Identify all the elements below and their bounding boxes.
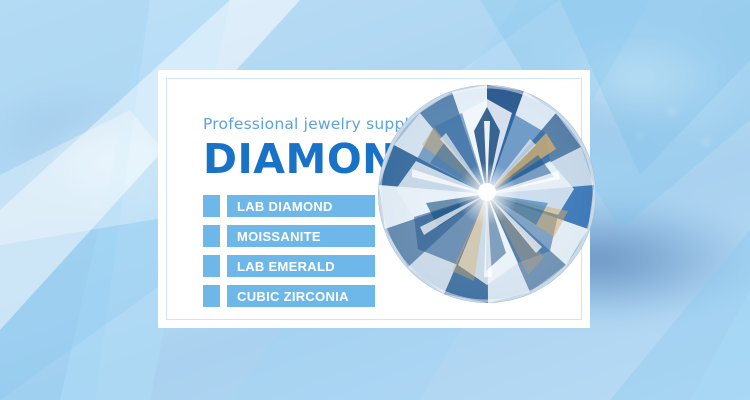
product-label: MOISSANITE — [227, 229, 321, 244]
product-bar: LAB EMERALD — [227, 255, 375, 277]
bullet-square-icon — [203, 195, 220, 217]
product-bar: MOISSANITE — [227, 225, 375, 247]
product-label: LAB EMERALD — [227, 259, 335, 274]
product-bar: LAB DIAMOND — [227, 195, 375, 217]
product-label: CUBIC ZIRCONIA — [227, 289, 349, 304]
bullet-square-icon — [203, 285, 220, 307]
bullet-square-icon — [203, 225, 220, 247]
banner-canvas: Professional jewelry supplier DIAMOND LA… — [0, 0, 750, 400]
product-bar: CUBIC ZIRCONIA — [227, 285, 375, 307]
bullet-square-icon — [203, 255, 220, 277]
diamond-image — [378, 85, 596, 303]
product-label: LAB DIAMOND — [227, 199, 333, 214]
